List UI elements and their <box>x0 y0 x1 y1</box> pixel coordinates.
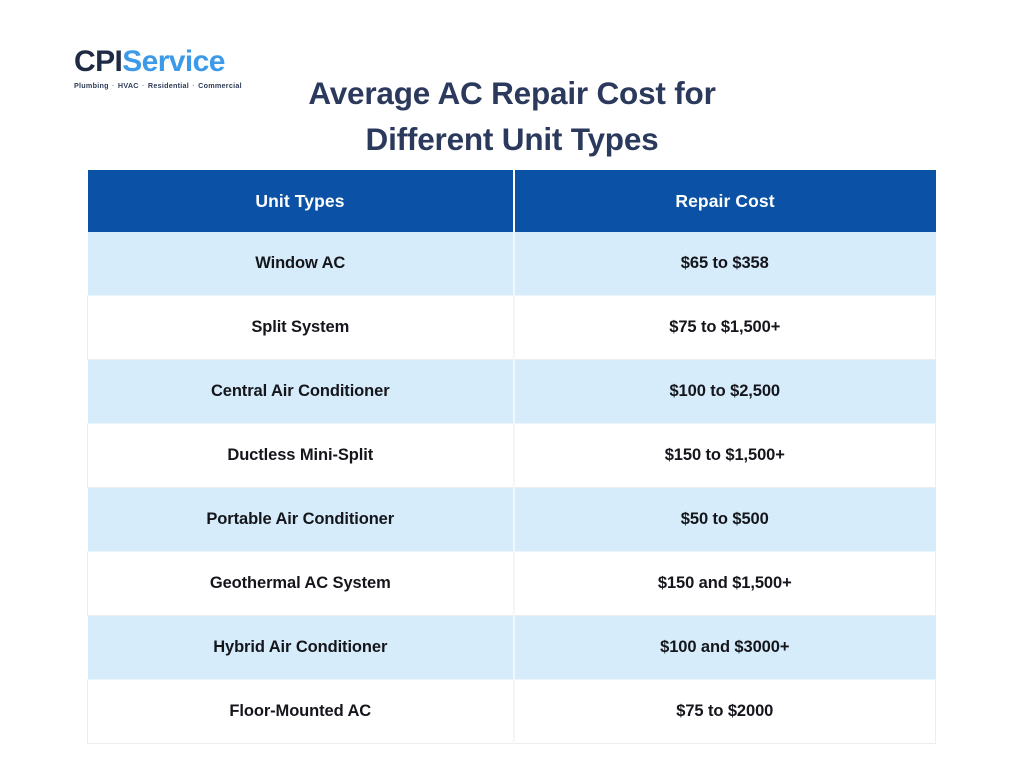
cell-repair-cost: $150 to $1,500+ <box>514 424 936 488</box>
cell-repair-cost: $150 and $1,500+ <box>514 552 936 616</box>
cell-unit-type: Window AC <box>88 232 514 296</box>
tagline-item-residential: Residential <box>148 81 189 90</box>
cell-repair-cost: $75 to $2000 <box>514 680 936 744</box>
cell-unit-type: Portable Air Conditioner <box>88 488 514 552</box>
page-title-line-2: Different Unit Types <box>262 117 762 163</box>
tagline-item-hvac: HVAC <box>118 81 139 90</box>
cpi-service-logo[interactable]: CPIService Plumbing · HVAC · Residential… <box>74 47 244 89</box>
tagline-separator-icon: · <box>191 81 196 90</box>
table-body: Window AC $65 to $358 Split System $75 t… <box>88 232 936 744</box>
cell-repair-cost: $100 and $3000+ <box>514 616 936 680</box>
cell-unit-type: Ductless Mini-Split <box>88 424 514 488</box>
logo-wordmark: CPIService <box>74 47 244 77</box>
table-row: Portable Air Conditioner $50 to $500 <box>88 488 936 552</box>
cell-unit-type: Central Air Conditioner <box>88 360 514 424</box>
tagline-item-commercial: Commercial <box>198 81 242 90</box>
page-title-line-1: Average AC Repair Cost for <box>262 71 762 117</box>
cell-repair-cost: $65 to $358 <box>514 232 936 296</box>
cell-unit-type: Split System <box>88 296 514 360</box>
cell-unit-type: Hybrid Air Conditioner <box>88 616 514 680</box>
table-row: Central Air Conditioner $100 to $2,500 <box>88 360 936 424</box>
table-row: Window AC $65 to $358 <box>88 232 936 296</box>
table-header-row: Unit Types Repair Cost <box>88 170 936 232</box>
tagline-separator-icon: · <box>111 81 116 90</box>
table-row: Split System $75 to $1,500+ <box>88 296 936 360</box>
table-row: Floor-Mounted AC $75 to $2000 <box>88 680 936 744</box>
header: CPIService Plumbing · HVAC · Residential… <box>0 0 1024 160</box>
table-row: Geothermal AC System $150 and $1,500+ <box>88 552 936 616</box>
logo-tagline: Plumbing · HVAC · Residential · Commerci… <box>74 82 244 89</box>
infographic-page: CPIService Plumbing · HVAC · Residential… <box>0 0 1024 768</box>
cell-unit-type: Geothermal AC System <box>88 552 514 616</box>
table-row: Ductless Mini-Split $150 to $1,500+ <box>88 424 936 488</box>
table-header: Unit Types Repair Cost <box>88 170 936 232</box>
column-header-unit-types: Unit Types <box>88 170 514 232</box>
page-title: Average AC Repair Cost for Different Uni… <box>262 71 762 163</box>
ac-repair-cost-table-wrapper: Unit Types Repair Cost Window AC $65 to … <box>87 170 935 744</box>
tagline-item-plumbing: Plumbing <box>74 81 109 90</box>
logo-primary-text: CPI <box>74 45 122 78</box>
table-row: Hybrid Air Conditioner $100 and $3000+ <box>88 616 936 680</box>
tagline-separator-icon: · <box>141 81 146 90</box>
cell-unit-type: Floor-Mounted AC <box>88 680 514 744</box>
cell-repair-cost: $50 to $500 <box>514 488 936 552</box>
logo-accent-text: Service <box>122 45 225 78</box>
cell-repair-cost: $100 to $2,500 <box>514 360 936 424</box>
column-header-repair-cost: Repair Cost <box>514 170 936 232</box>
ac-repair-cost-table: Unit Types Repair Cost Window AC $65 to … <box>87 170 936 744</box>
cell-repair-cost: $75 to $1,500+ <box>514 296 936 360</box>
